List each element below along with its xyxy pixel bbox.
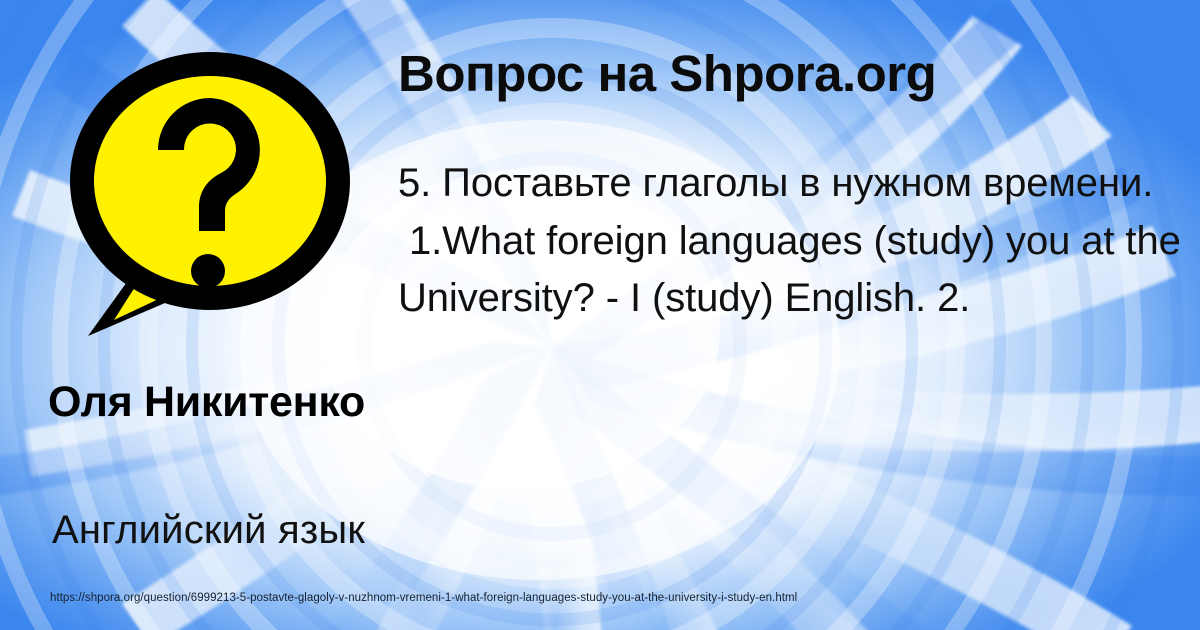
question-speech-bubble-icon: [58, 36, 358, 336]
question-card: Вопрос на Shpora.org 5. Поставьте глагол…: [0, 0, 1200, 630]
source-url[interactable]: https://shpora.org/question/6999213-5-po…: [50, 592, 797, 604]
question-text: 5. Поставьте глаголы в нужном времени. 1…: [398, 155, 1200, 328]
subject-label: Английский язык: [52, 508, 472, 552]
card-content: Вопрос на Shpora.org 5. Поставьте глагол…: [0, 0, 1200, 630]
author-name: Оля Никитенко: [48, 378, 400, 426]
page-title: Вопрос на Shpora.org: [398, 44, 936, 103]
